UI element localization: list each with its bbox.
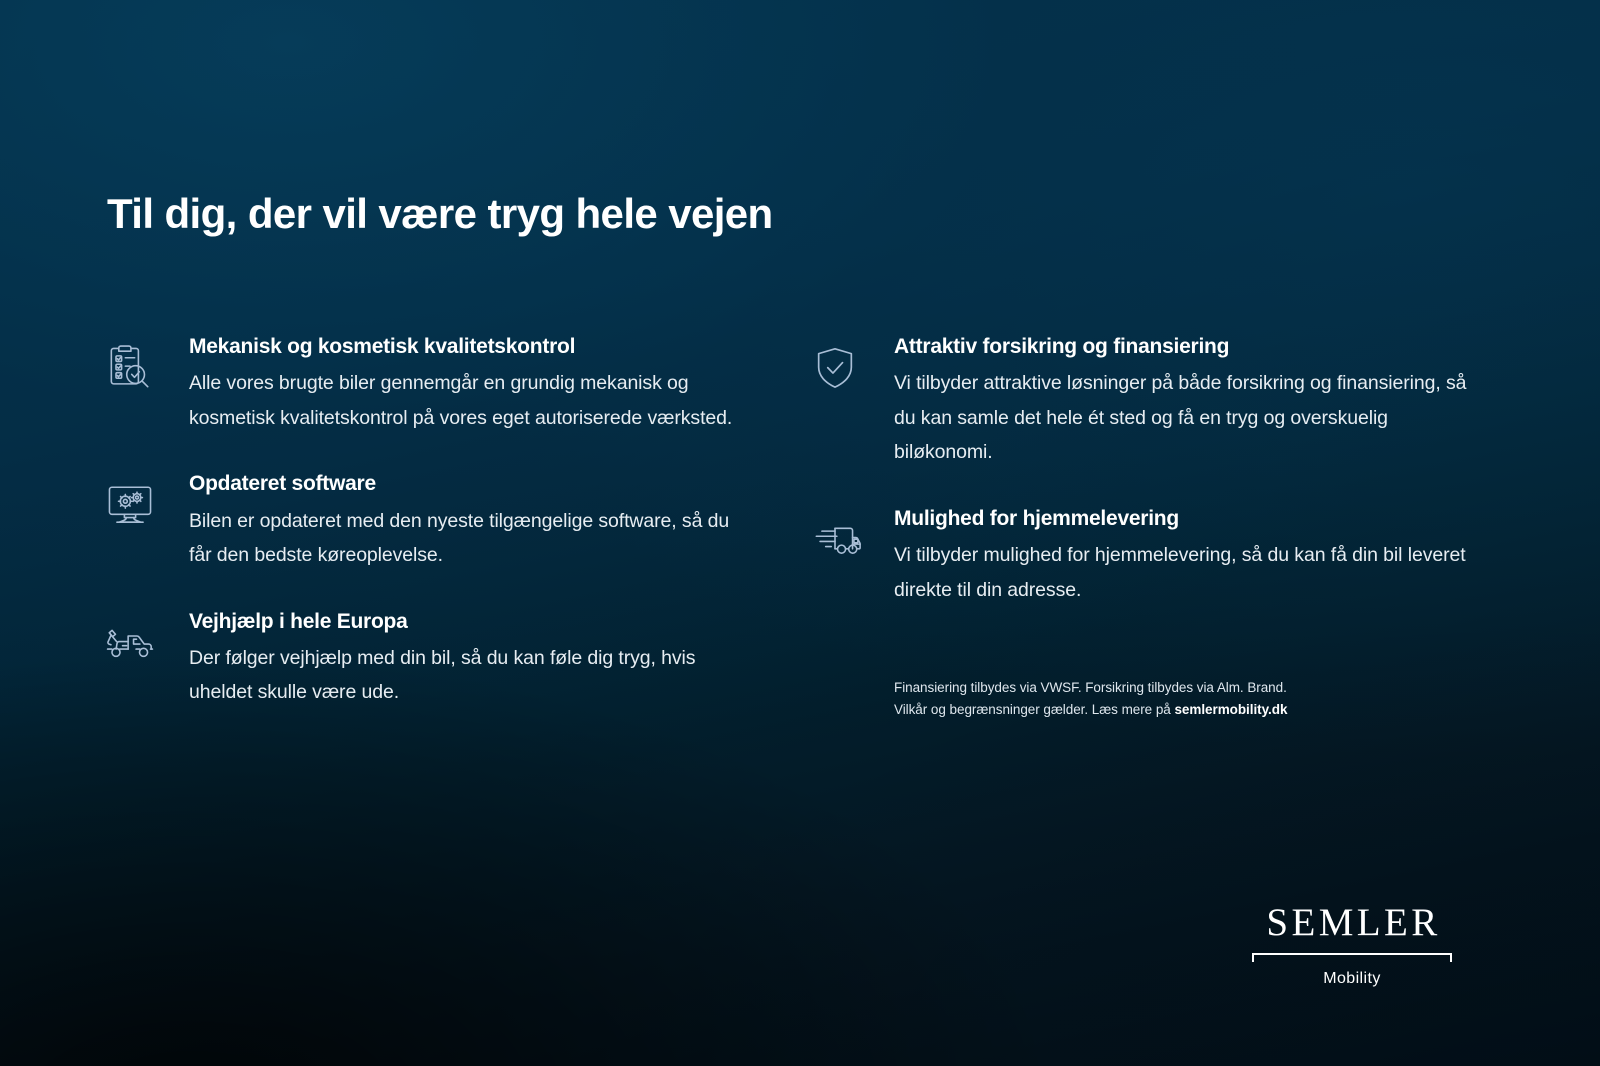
feature-title: Mekanisk og kosmetisk kvalitetskontrol (189, 334, 740, 360)
semlermobility-link[interactable]: semlermobility.dk (1174, 702, 1287, 717)
monitor-gears-icon (100, 477, 160, 533)
feature-body: Vi tilbyder attraktive løsninger på både… (894, 366, 1485, 470)
feature-roadside-assistance: Vejhjælp i hele Europa Der følger vejhjæ… (100, 609, 740, 710)
disclaimer-line-2-prefix: Vilkår og begrænsninger gælder. Læs mere… (894, 702, 1174, 717)
feature-body: Vi tilbyder mulighed for hjemmelevering,… (894, 538, 1485, 607)
feature-insurance-financing: Attraktiv forsikring og finansiering Vi … (805, 334, 1485, 470)
disclaimer-text: Finansiering tilbydes via VWSF. Forsikri… (805, 677, 1485, 721)
feature-home-delivery: Mulighed for hjemmelevering Vi tilbyder … (805, 506, 1485, 607)
features-column-right: Attraktiv forsikring og finansiering Vi … (805, 334, 1485, 721)
feature-title: Mulighed for hjemmelevering (894, 506, 1485, 532)
logo-wordmark: SEMLER (1252, 903, 1452, 942)
slide-background: Til dig, der vil være tryg hele vejen (0, 0, 1600, 1066)
logo-subtitle: Mobility (1252, 970, 1452, 988)
feature-body: Alle vores brugte biler gennemgår en gru… (189, 366, 740, 435)
shield-check-icon (805, 340, 865, 396)
features-column-left: Mekanisk og kosmetisk kvalitetskontrol A… (100, 334, 740, 710)
semler-mobility-logo: SEMLER Mobility (1252, 903, 1452, 988)
feature-updated-software: Opdateret software Bilen er opdateret me… (100, 471, 740, 572)
feature-title: Opdateret software (189, 471, 740, 497)
page-title: Til dig, der vil være tryg hele vejen (107, 190, 773, 237)
feature-body: Der følger vejhjælp med din bil, så du k… (189, 641, 740, 710)
clipboard-check-magnifier-icon (100, 340, 160, 396)
feature-body: Bilen er opdateret med den nyeste tilgæn… (189, 504, 740, 573)
feature-title: Attraktiv forsikring og finansiering (894, 334, 1485, 360)
slide-content: Til dig, der vil være tryg hele vejen (0, 0, 1600, 1066)
spacer (805, 643, 1485, 677)
disclaimer-line-1: Finansiering tilbydes via VWSF. Forsikri… (894, 680, 1287, 695)
delivery-truck-icon (805, 512, 865, 568)
feature-title: Vejhjælp i hele Europa (189, 609, 740, 635)
logo-divider (1252, 953, 1452, 963)
feature-quality-control: Mekanisk og kosmetisk kvalitetskontrol A… (100, 334, 740, 435)
tow-truck-icon (100, 615, 160, 671)
